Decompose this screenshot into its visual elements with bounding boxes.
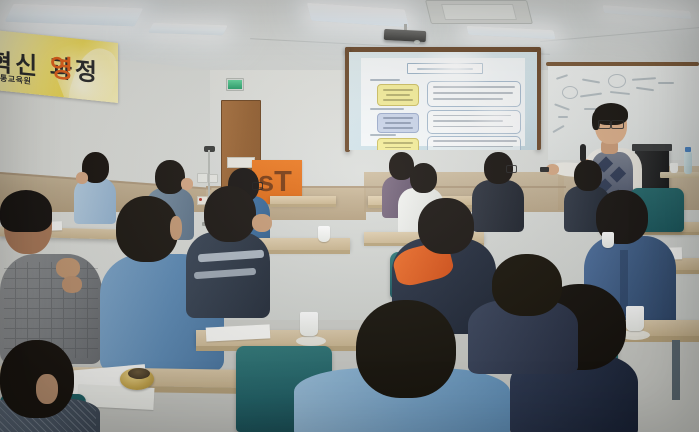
attendee-ear xyxy=(36,374,58,404)
presenter-glasses xyxy=(611,120,624,129)
attendee-hand xyxy=(62,276,82,293)
attendee-head xyxy=(492,254,562,316)
side-table xyxy=(660,172,699,178)
attendee-head xyxy=(155,160,185,194)
desk-leg xyxy=(672,340,680,400)
poster-text: sT xyxy=(258,168,292,197)
attendee-hand xyxy=(56,258,80,278)
banner-accent-character: 영 xyxy=(50,48,73,86)
screen-glare xyxy=(466,95,530,140)
slide-chip-yellow-2 xyxy=(377,138,419,150)
ceiling-projector xyxy=(384,29,427,42)
attendee-head xyxy=(204,186,256,242)
metal-tin-lid xyxy=(128,368,150,379)
attendee-glasses xyxy=(506,165,517,173)
cup-coaster xyxy=(296,336,326,346)
projector-lens xyxy=(414,40,420,44)
attendee-hand xyxy=(76,172,88,184)
slide-row-label xyxy=(370,134,396,136)
attendee-head xyxy=(418,198,474,254)
paper-cup xyxy=(670,163,678,173)
lecture-hall-photo: 혁신 과정 영 유통교육원 sT xyxy=(0,0,699,432)
attendee-body xyxy=(74,178,116,224)
paper-cup xyxy=(318,226,330,242)
attendee-glasses xyxy=(252,182,263,190)
attendee-head xyxy=(116,196,178,262)
paper-cup xyxy=(626,306,644,331)
attendee-hair xyxy=(0,190,52,232)
screen-glare xyxy=(413,52,499,93)
presenter-glasses xyxy=(598,120,611,129)
attendee-body xyxy=(472,180,524,232)
paper-cup xyxy=(602,232,614,248)
wall-outlet xyxy=(197,173,208,183)
slide-row-label xyxy=(370,79,400,81)
attendee-head xyxy=(356,300,456,398)
attendee-hand xyxy=(181,178,193,190)
paper-cup xyxy=(300,312,318,336)
air-conditioning-vent xyxy=(425,0,533,24)
attendee-head xyxy=(574,160,602,191)
wall-notice-marker xyxy=(199,198,202,201)
attendee-hand xyxy=(252,214,272,232)
wall-outlet xyxy=(209,174,218,183)
slide-chip-blue xyxy=(377,113,419,133)
door-sign-plate xyxy=(227,157,255,168)
projection-screen xyxy=(349,52,537,150)
lectern-top xyxy=(632,144,672,151)
water-bottle xyxy=(684,152,692,174)
attendee-ear xyxy=(170,216,182,240)
desk-back-center xyxy=(270,196,336,204)
presentation-remote xyxy=(540,167,549,172)
attendee-head xyxy=(410,163,437,193)
slide-row-label xyxy=(370,108,404,110)
wall-banner: 혁신 과정 영 유통교육원 xyxy=(0,30,118,103)
exit-sign xyxy=(226,78,244,91)
bottle-cap xyxy=(685,147,691,152)
